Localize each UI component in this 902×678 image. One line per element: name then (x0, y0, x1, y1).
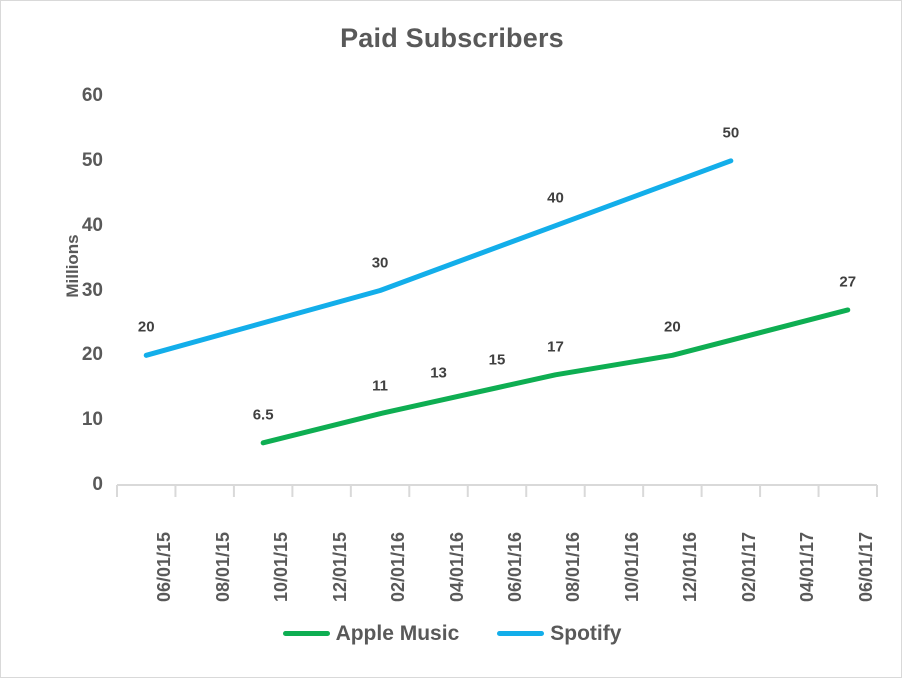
x-tick-label: 02/01/16 (388, 532, 409, 602)
x-tick-label: 12/01/15 (330, 532, 351, 602)
chart-legend: Apple MusicSpotify (1, 623, 902, 644)
legend-swatch-icon (283, 631, 330, 636)
x-tick-label: 08/01/16 (563, 532, 584, 602)
x-tick-label: 04/01/17 (797, 532, 818, 602)
data-point-label: 17 (547, 338, 564, 355)
series-line-spotify (146, 161, 731, 356)
data-point-label: 20 (664, 319, 681, 336)
x-tick-label: 06/01/16 (505, 532, 526, 602)
x-axis-ticks (117, 485, 877, 497)
legend-item-spotify[interactable]: Spotify (497, 623, 621, 644)
series-line-apple-music (263, 310, 848, 443)
data-point-label: 13 (430, 364, 447, 381)
legend-item-apple-music[interactable]: Apple Music (283, 623, 460, 644)
chart-container: Paid Subscribers Millions 0102030405060 … (0, 0, 902, 678)
x-tick-label: 10/01/16 (622, 532, 643, 602)
data-point-label: 20 (138, 319, 155, 336)
data-point-label: 6.5 (253, 406, 274, 423)
data-point-label: 30 (372, 254, 389, 271)
legend-swatch-icon (497, 631, 544, 636)
data-point-label: 50 (723, 124, 740, 141)
data-point-label: 15 (489, 351, 506, 368)
x-tick-label: 10/01/15 (271, 532, 292, 602)
legend-label: Apple Music (336, 623, 460, 644)
data-point-label: 40 (547, 189, 564, 206)
x-tick-label: 08/01/15 (213, 532, 234, 602)
x-tick-label: 12/01/16 (680, 532, 701, 602)
x-tick-label: 06/01/15 (154, 532, 175, 602)
data-point-label: 27 (839, 273, 856, 290)
x-tick-label: 02/01/17 (739, 532, 760, 602)
x-tick-label: 04/01/16 (447, 532, 468, 602)
x-tick-label: 06/01/17 (856, 532, 877, 602)
legend-label: Spotify (550, 623, 621, 644)
data-point-label: 11 (372, 377, 388, 394)
